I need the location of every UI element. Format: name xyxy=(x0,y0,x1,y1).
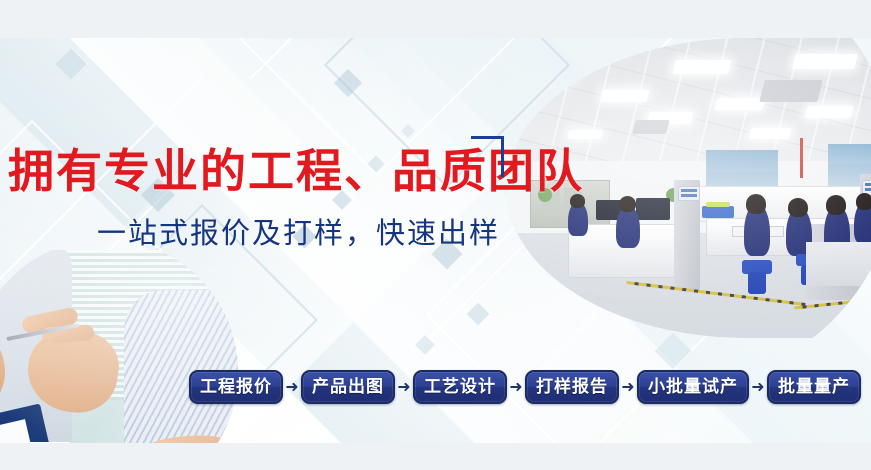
process-arrow-5-icon: ➜ xyxy=(749,379,767,395)
bg-diamond-4 xyxy=(401,124,415,138)
meeting-photo-sheen xyxy=(0,250,300,443)
bg-diamond-11 xyxy=(655,333,692,370)
process-arrow-4-icon: ➜ xyxy=(619,379,637,395)
banner-subheadline: 一站式报价及打样，快速出样 xyxy=(0,214,560,252)
bg-diamond-10 xyxy=(415,335,435,355)
promo-banner: 拥有专业的工程、品质团队 一站式报价及打样，快速出样 工程报价 ➜ 产品出图 ➜… xyxy=(0,0,871,470)
process-step-5[interactable]: 小批量试产 xyxy=(637,370,749,404)
process-step-1[interactable]: 工程报价 xyxy=(189,370,283,404)
bg-diamond-9 xyxy=(467,303,490,326)
bg-diamond-13 xyxy=(55,48,86,79)
process-flow: 工程报价 ➜ 产品出图 ➜ 工艺设计 ➜ 打样报告 ➜ 小批量试产 ➜ 批量量产 xyxy=(0,370,871,404)
process-arrow-1-icon: ➜ xyxy=(283,379,301,395)
process-step-4[interactable]: 打样报告 xyxy=(525,370,619,404)
bg-streak-3 xyxy=(249,38,413,80)
bottom-band xyxy=(0,443,871,470)
process-arrow-2-icon: ➜ xyxy=(395,379,413,395)
bg-diamond-5 xyxy=(334,69,362,97)
corner-bracket-decoration xyxy=(471,136,504,177)
top-band xyxy=(0,0,871,38)
process-arrow-3-icon: ➜ xyxy=(507,379,525,395)
process-step-6[interactable]: 批量量产 xyxy=(767,370,861,404)
banner-stage: 拥有专业的工程、品质团队 一站式报价及打样，快速出样 工程报价 ➜ 产品出图 ➜… xyxy=(0,38,871,443)
meeting-photo xyxy=(0,250,300,443)
process-step-3[interactable]: 工艺设计 xyxy=(413,370,507,404)
process-step-2[interactable]: 产品出图 xyxy=(301,370,395,404)
meeting-photo-image xyxy=(0,250,300,443)
